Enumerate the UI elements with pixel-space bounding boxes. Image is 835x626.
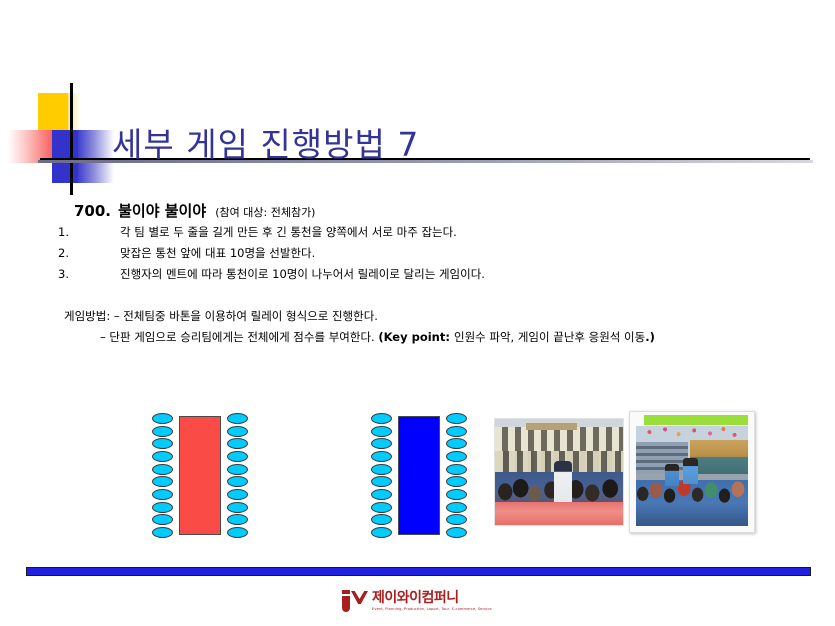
step-number: 1.: [58, 225, 120, 239]
blue-team-cloth-band: [398, 416, 440, 535]
company-tagline: Event, Planning, Production, Laport, Tou…: [372, 607, 492, 611]
player-dot: [446, 489, 467, 500]
player-dot: [371, 413, 392, 424]
photo2-green-accent-band: [644, 415, 748, 425]
diagram-red-team: [152, 413, 248, 538]
player-dot: [227, 476, 248, 487]
deco-blue-square: [52, 130, 114, 183]
player-dot: [152, 426, 173, 437]
player-dot: [371, 426, 392, 437]
photo2-image-area: [636, 426, 748, 526]
player-dot: [371, 514, 392, 525]
player-dot: [446, 426, 467, 437]
section-participants: (참여 대상: 전체참가): [215, 206, 315, 219]
list-item: 2. 맞잡은 통천 앞에 대표 10명을 선발한다.: [58, 245, 758, 266]
player-dot: [152, 514, 173, 525]
red-team-left-players: [152, 413, 173, 538]
player-dot: [227, 527, 248, 538]
player-dot: [371, 476, 392, 487]
steps-list: 1. 각 팀 별로 두 줄을 길게 만든 후 긴 통천을 양쪽에서 서로 마주 …: [58, 224, 758, 287]
method-line-2-text: – 단판 게임으로 승리팀에게는 전체에게 점수를 부여한다.: [100, 330, 378, 344]
keypoint-end: .): [645, 330, 655, 344]
step-number: 2.: [58, 246, 120, 260]
photo2-crowd: [636, 480, 748, 526]
photo1-roof-banner: [526, 423, 577, 429]
company-name: 제이와이컴퍼니: [372, 591, 492, 605]
logo-j-dot: [342, 590, 350, 594]
player-dot: [371, 438, 392, 449]
player-dot: [227, 413, 248, 424]
photo-school-parachute: [494, 418, 624, 526]
footer-blue-bar: [26, 567, 811, 576]
section-heading: 700. 불이야 불이야 (참여 대상: 전체참가): [74, 200, 315, 221]
list-item: 1. 각 팀 별로 두 줄을 길게 만든 후 긴 통천을 양쪽에서 서로 마주 …: [58, 224, 758, 245]
step-text: 맞잡은 통천 앞에 대표 10명을 선발한다.: [120, 245, 315, 261]
player-dot: [446, 502, 467, 513]
player-dot: [371, 502, 392, 513]
jy-logo-icon: [342, 590, 368, 612]
player-dot: [227, 426, 248, 437]
player-dot: [371, 451, 392, 462]
logo-j-stroke: [342, 596, 350, 612]
step-text: 각 팀 별로 두 줄을 길게 만든 후 긴 통천을 양쪽에서 서로 마주 잡는다…: [120, 224, 457, 240]
player-dot: [152, 476, 173, 487]
method-line-1-text: – 전체팀중 바톤을 이용하여 릴레이 형식으로 진행한다.: [110, 309, 378, 323]
keypoint-text: 인원수 파악, 게임이 끝난후 응원석 이동: [454, 330, 645, 344]
player-dot: [371, 527, 392, 538]
player-dot: [152, 502, 173, 513]
player-dot: [446, 413, 467, 424]
red-team-right-players: [227, 413, 248, 538]
page-title: 세부 게임 진행방법 7: [112, 118, 419, 166]
player-dot: [227, 514, 248, 525]
method-label: 게임방법:: [64, 309, 110, 323]
player-dot: [152, 438, 173, 449]
photo2-building-left: [636, 442, 688, 476]
player-dot: [227, 438, 248, 449]
player-dot: [227, 489, 248, 500]
logo-y-stroke: [351, 591, 368, 604]
player-dot: [152, 464, 173, 475]
section-name: 불이야 불이야: [118, 202, 206, 220]
logo-text-block: 제이와이컴퍼니 Event, Planning, Production, Lap…: [372, 591, 492, 611]
deco-vertical-line: [70, 83, 73, 195]
player-dot: [152, 527, 173, 538]
player-dot: [446, 476, 467, 487]
photo2-building-right: [690, 440, 748, 476]
method-line-1: 게임방법: – 전체팀중 바톤을 이용하여 릴레이 형식으로 진행한다.: [64, 308, 804, 329]
diagram-blue-team: [371, 413, 467, 538]
player-dot: [152, 451, 173, 462]
deco-red-square: [8, 130, 70, 163]
red-team-cloth-band: [179, 416, 221, 535]
deco-blue-core: [52, 130, 78, 183]
player-dot: [446, 451, 467, 462]
footer-logo: 제이와이컴퍼니 Event, Planning, Production, Lap…: [342, 589, 492, 613]
photo2-lifted-person-a: [683, 458, 698, 484]
player-dot: [152, 489, 173, 500]
player-dot: [227, 464, 248, 475]
step-text: 진행자의 멘트에 따라 통천이로 10명이 나누어서 릴레이로 달리는 게임이다…: [120, 266, 485, 282]
method-line-2: – 단판 게임으로 승리팀에게는 전체에게 점수를 부여한다. (Key poi…: [64, 329, 804, 350]
photo2-lifted-person-b: [665, 464, 678, 486]
player-dot: [371, 489, 392, 500]
player-dot: [446, 527, 467, 538]
photo1-red-cloth: [495, 502, 623, 525]
player-dot: [227, 451, 248, 462]
photo-plaza-crowd: [629, 411, 755, 533]
keypoint-label: (Key point:: [378, 330, 454, 344]
list-item: 3. 진행자의 멘트에 따라 통천이로 10명이 나누어서 릴레이로 달리는 게…: [58, 266, 758, 287]
player-dot: [446, 438, 467, 449]
section-number: 700.: [74, 202, 111, 220]
player-dot: [152, 413, 173, 424]
deco-yellow-core: [38, 93, 68, 133]
blue-team-right-players: [446, 413, 467, 538]
blue-team-left-players: [371, 413, 392, 538]
player-dot: [446, 464, 467, 475]
title-underline-rule: [38, 160, 813, 163]
player-dot: [446, 514, 467, 525]
player-dot: [371, 464, 392, 475]
game-method-block: 게임방법: – 전체팀중 바톤을 이용하여 릴레이 형식으로 진행한다. – 단…: [64, 308, 804, 350]
step-number: 3.: [58, 267, 120, 281]
player-dot: [227, 502, 248, 513]
deco-yellow-square: [38, 93, 80, 133]
